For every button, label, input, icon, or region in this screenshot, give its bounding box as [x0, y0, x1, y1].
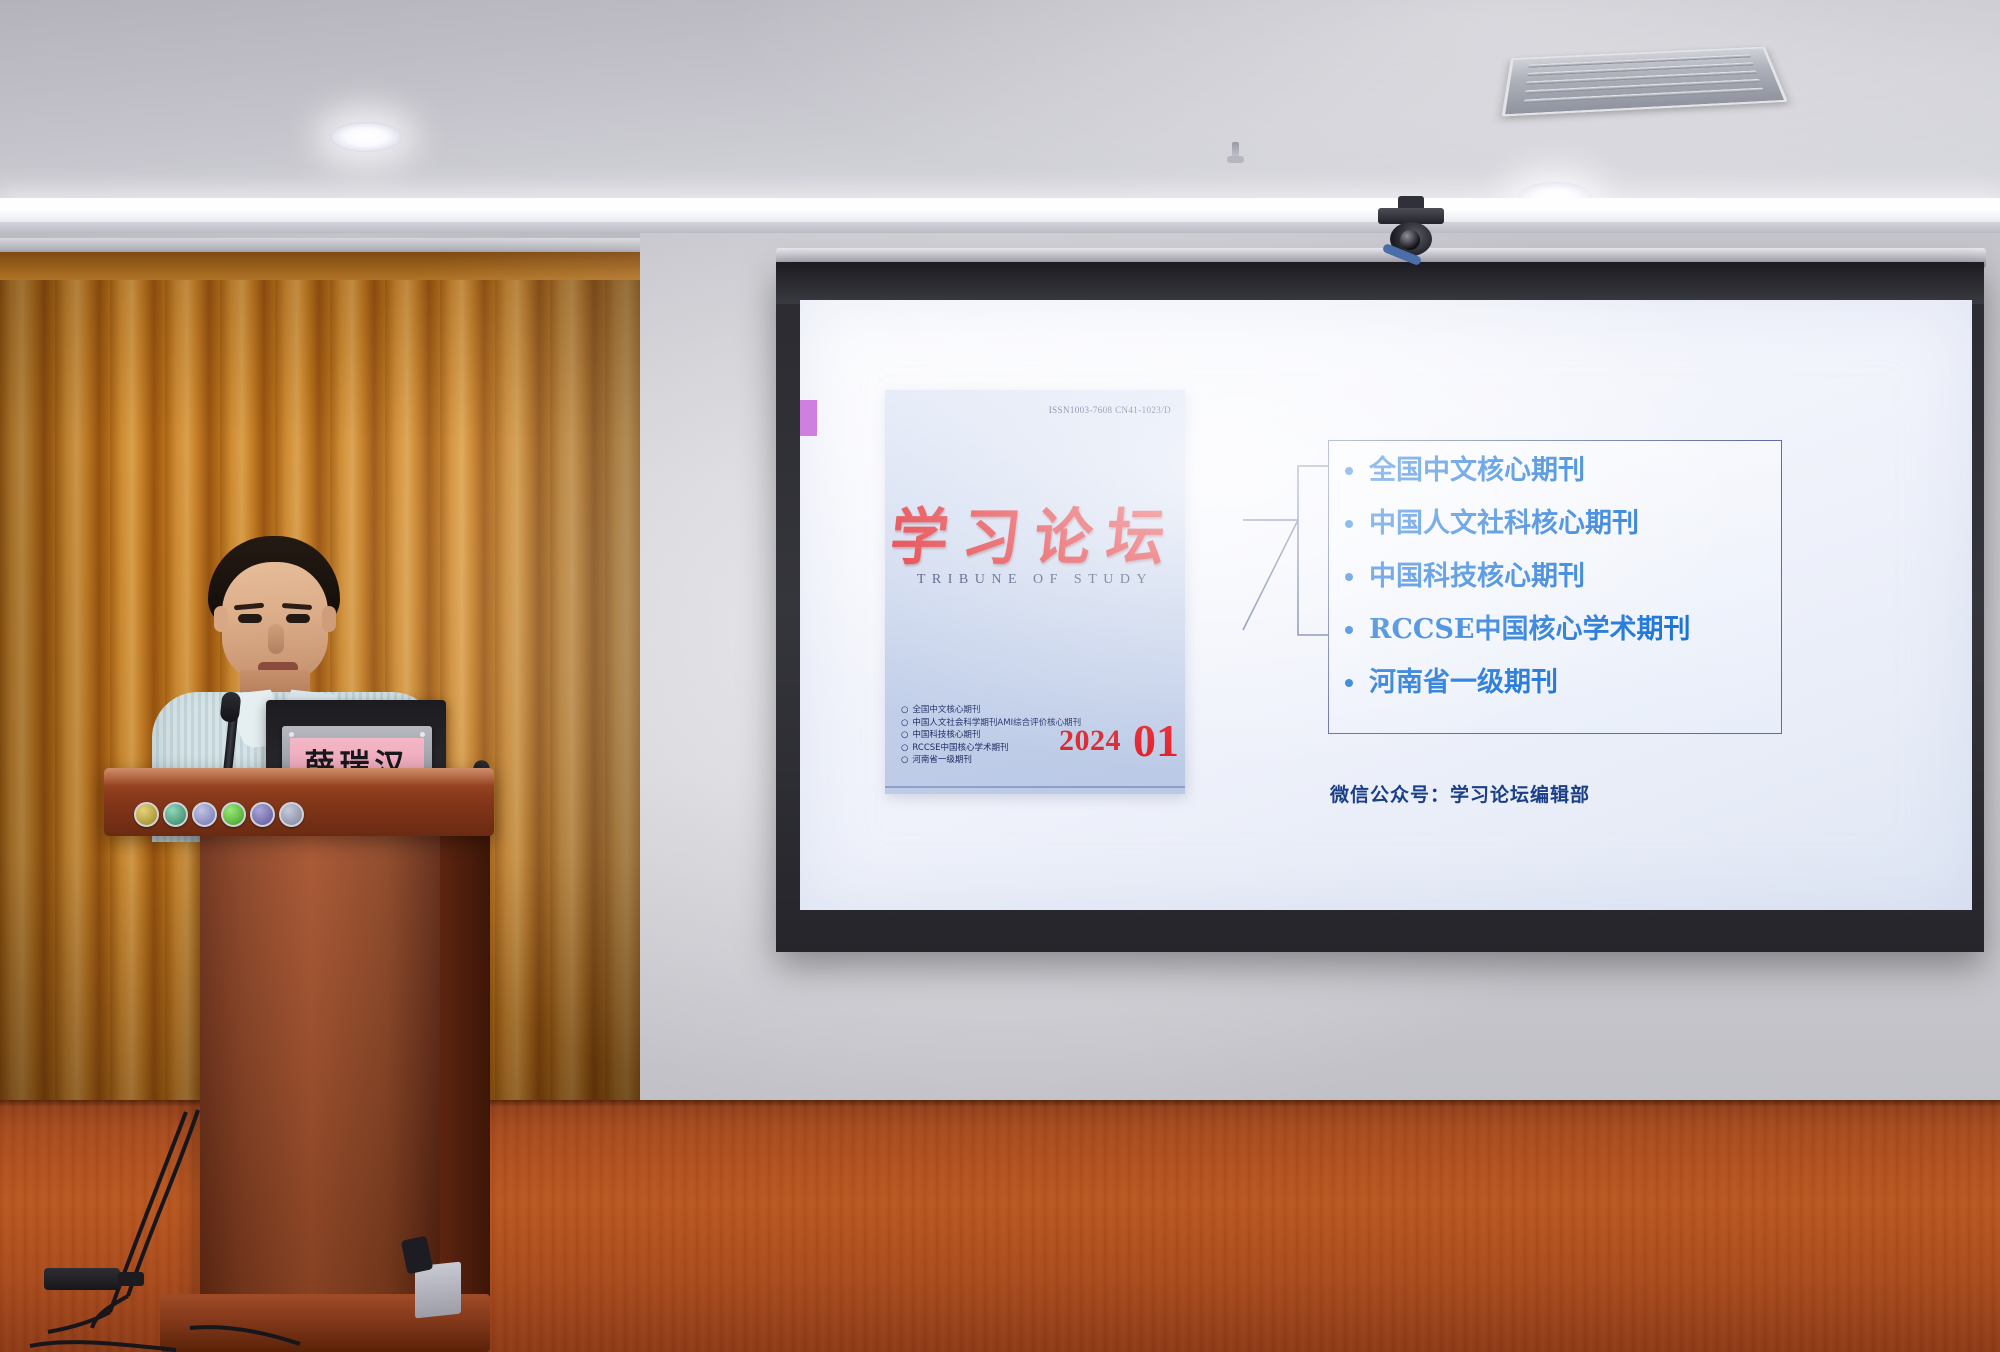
list-item: ○全国中文核心期刊 — [901, 704, 1081, 717]
circle-bullet-icon: ○ — [901, 755, 908, 765]
list-item: 中国科技核心期刊 — [1329, 563, 1781, 590]
podium-desktop-highlight — [104, 768, 494, 786]
bullet-dot-icon — [1345, 626, 1353, 634]
podium-button-2[interactable] — [163, 802, 188, 827]
circle-bullet-icon: ○ — [901, 718, 908, 728]
camera-lens-icon — [1400, 230, 1420, 250]
podium-button-6[interactable] — [279, 802, 304, 827]
circle-bullet-icon: ○ — [901, 743, 908, 753]
podium-button-3[interactable] — [192, 802, 217, 827]
ear-right — [322, 606, 336, 632]
podium-button-4[interactable] — [221, 802, 246, 827]
floor-cables — [0, 1100, 700, 1352]
power-adapter-brick — [44, 1268, 120, 1290]
list-item: 全国中文核心期刊 — [1329, 457, 1781, 484]
eye-left — [238, 614, 262, 623]
podium-control-buttons[interactable] — [134, 802, 304, 827]
podium-button-1[interactable] — [134, 802, 159, 827]
circle-bullet-icon: ○ — [901, 705, 908, 715]
list-item: 中国人文社科核心期刊 — [1329, 510, 1781, 537]
list-item: RCCSE中国核心学术期刊 — [1329, 616, 1781, 643]
list-item: 河南省一级期刊 — [1329, 669, 1781, 696]
magazine-bottom-rule — [885, 786, 1185, 788]
bullet-dot-icon — [1345, 679, 1353, 687]
cove-light-strip — [0, 198, 2000, 224]
credential-list: 全国中文核心期刊 中国人文社科核心期刊 中国科技核心期刊 RCCSE中国核心学术… — [1329, 441, 1781, 696]
projection-screen-surface: ISSN1003-7608 CN41-1023/D 学习论坛 TRIBUNE O… — [800, 300, 1972, 910]
magazine-issn-line: ISSN1003-7608 CN41-1023/D — [1049, 405, 1171, 416]
downlight-left — [330, 122, 402, 152]
magazine-cover-image: ISSN1003-7608 CN41-1023/D 学习论坛 TRIBUNE O… — [885, 390, 1185, 794]
magazine-issue-number: 01 — [1133, 714, 1179, 767]
nose — [268, 624, 284, 654]
cable-plug — [118, 1272, 144, 1286]
circle-bullet-icon: ○ — [901, 730, 908, 740]
projection-screen-top-bar — [776, 262, 1984, 304]
list-item: ○RCCSE中国核心学术期刊 — [901, 742, 1081, 755]
ear-left — [214, 606, 228, 632]
magazine-title-en: TRIBUNE OF STUDY — [885, 572, 1185, 588]
list-item: ○河南省一级期刊 — [901, 754, 1081, 767]
bullet-dot-icon — [1345, 467, 1353, 475]
screw-right — [420, 732, 425, 737]
magazine-year: 2024 — [1059, 724, 1121, 758]
eye-right — [286, 614, 310, 623]
list-item: ○中国人文社会科学期刊AMI综合评价核心期刊 — [901, 717, 1081, 730]
conference-hall-photo: ISSN1003-7608 CN41-1023/D 学习论坛 TRIBUNE O… — [0, 0, 2000, 1352]
podium-button-5[interactable] — [250, 802, 275, 827]
bullet-dot-icon — [1345, 573, 1353, 581]
screw-left — [289, 732, 294, 737]
list-item: ○中国科技核心期刊 — [901, 729, 1081, 742]
magazine-title-cn: 学习论坛 — [885, 487, 1185, 576]
credential-callout-box: 全国中文核心期刊 中国人文社科核心期刊 中国科技核心期刊 RCCSE中国核心学术… — [1328, 440, 1782, 734]
bullet-dot-icon — [1345, 520, 1353, 528]
screen-side-tab — [800, 400, 817, 436]
fire-sprinkler-icon — [1232, 142, 1239, 162]
magazine-cover-credential-list: ○全国中文核心期刊 ○中国人文社会科学期刊AMI综合评价核心期刊 ○中国科技核心… — [901, 704, 1081, 767]
wechat-account-line: 微信公众号：学习论坛编辑部 — [1330, 780, 1590, 807]
